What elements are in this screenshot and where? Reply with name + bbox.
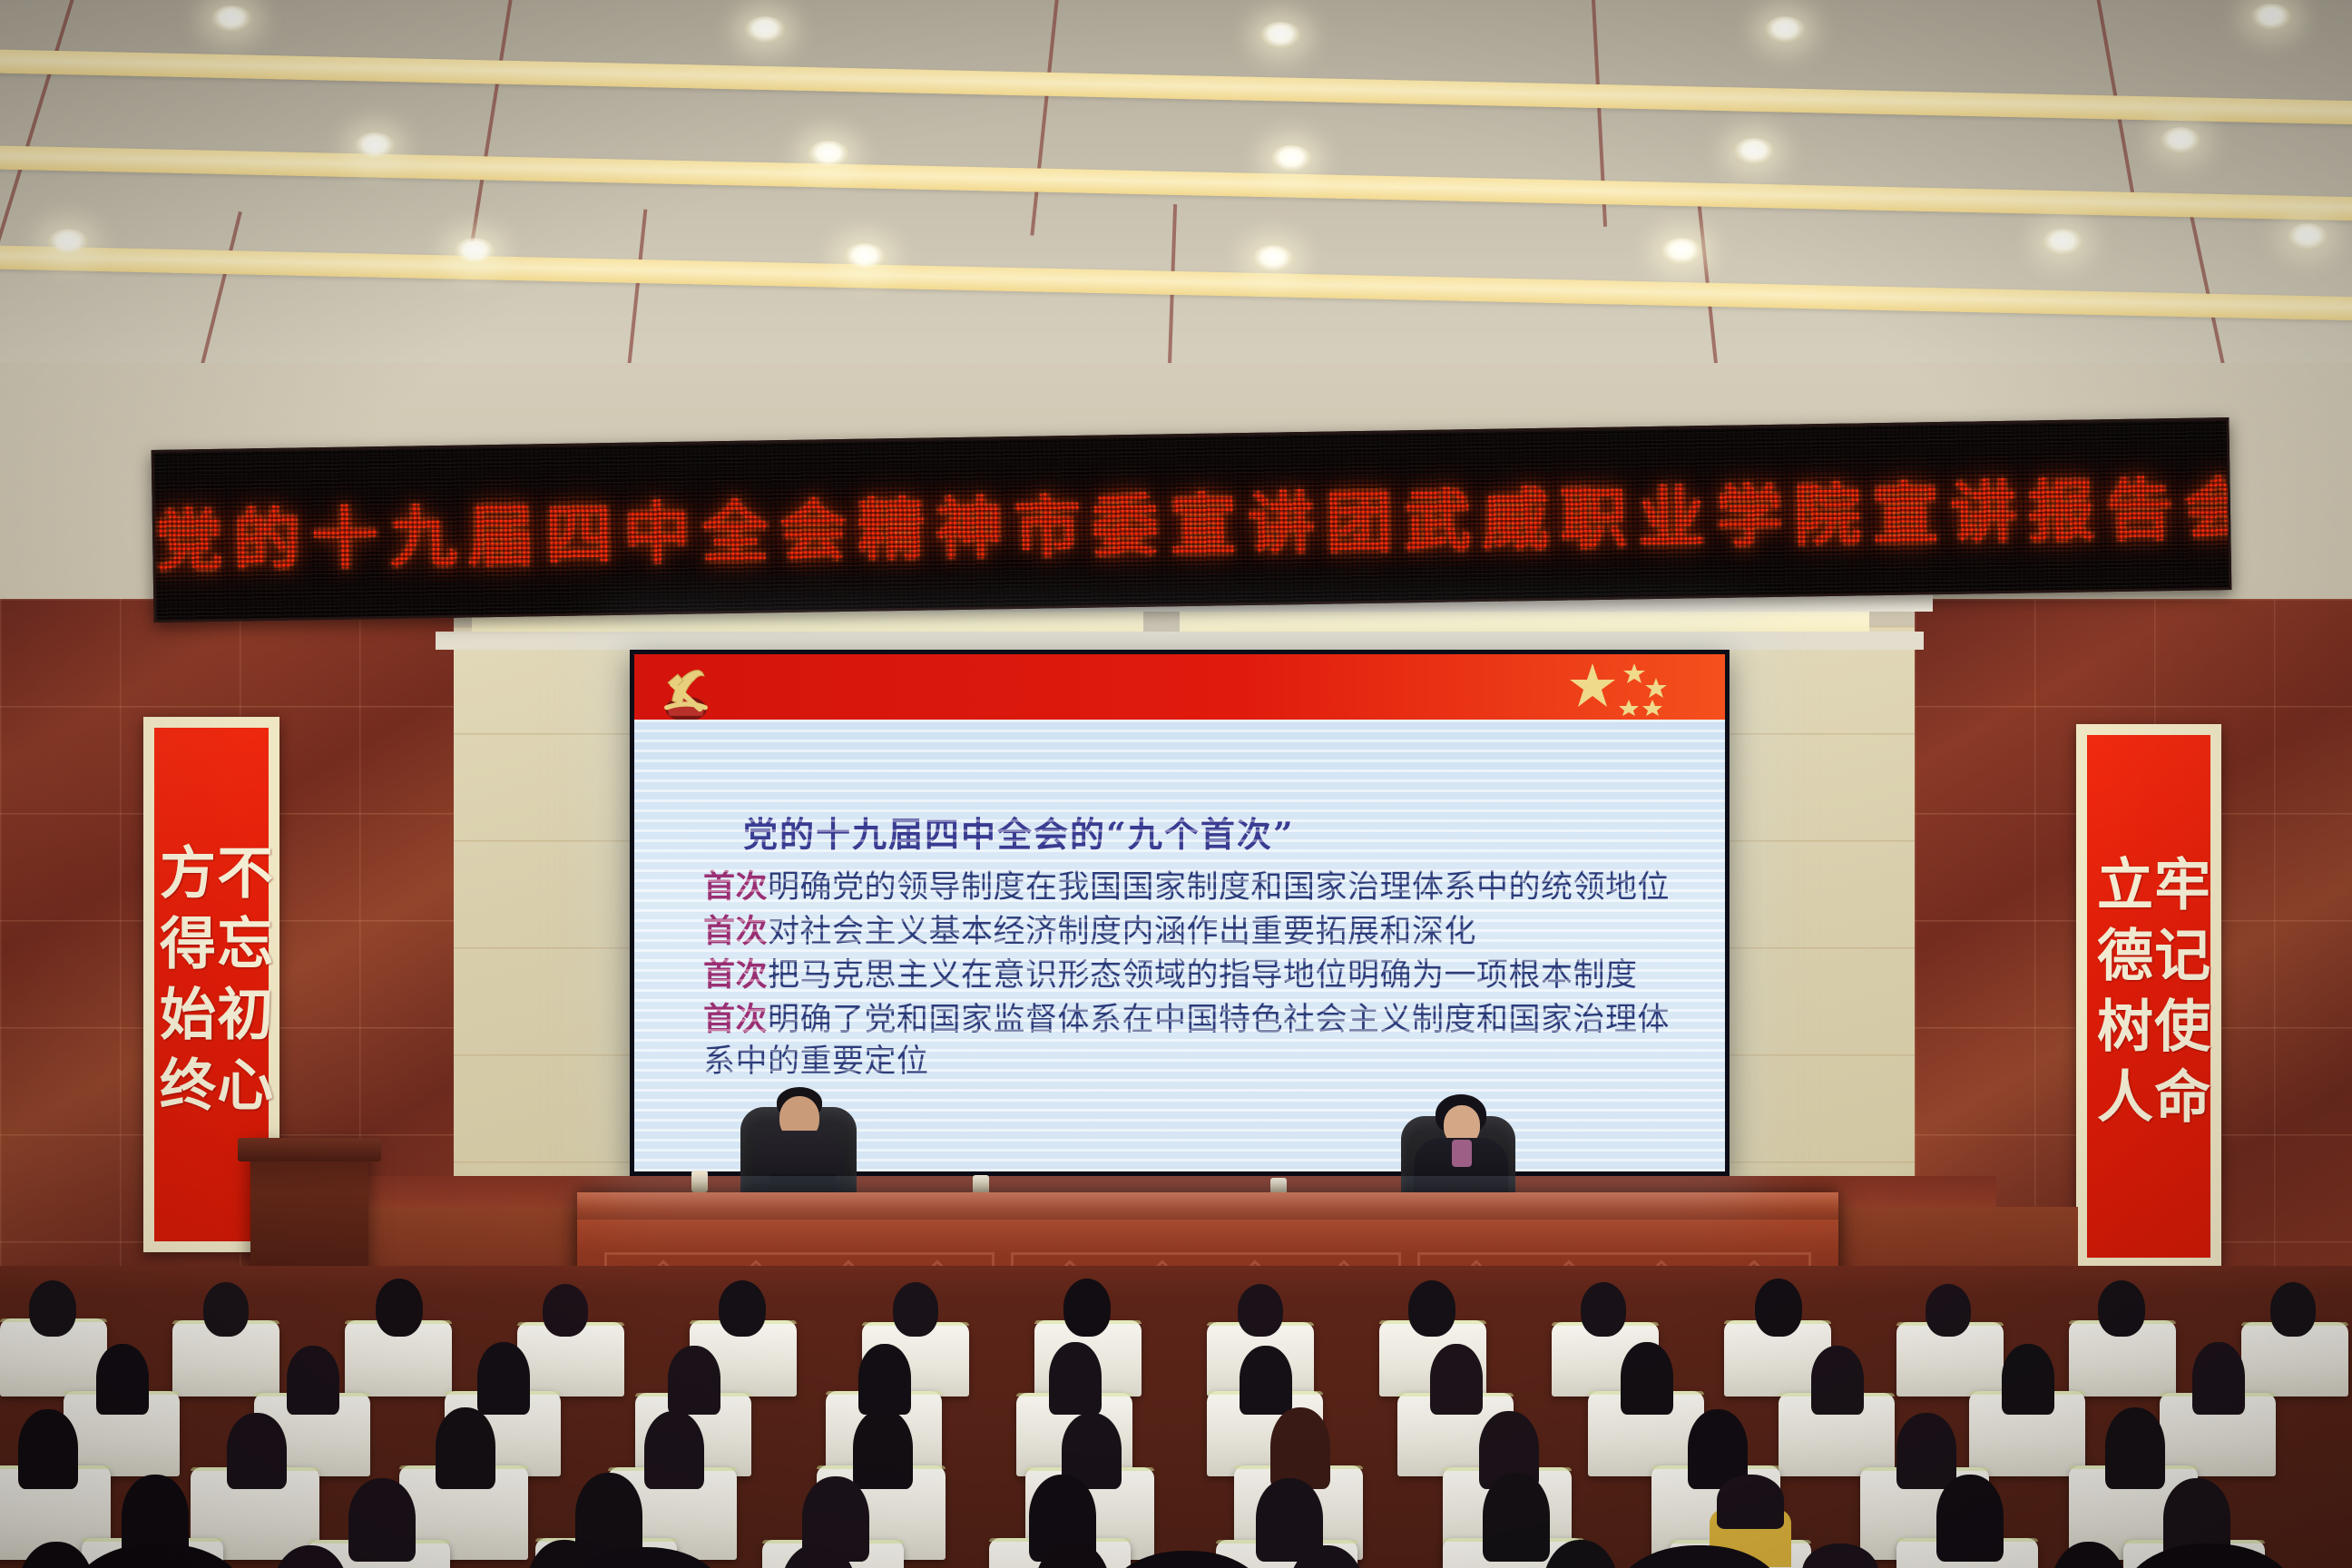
left-banner-text: 不忘初心方得始终 [154, 843, 269, 1126]
audience-hair [1936, 1475, 2004, 1562]
audience-head [1238, 1284, 1283, 1337]
ceiling-downlight [808, 141, 849, 168]
auditorium-scene: 党的十九届四中全会精神市委宣讲团武威职业学院宣讲报告会 不忘初心方得始终 牢记使… [0, 0, 2352, 1568]
right-banner-text: 牢记使命立德树人 [2092, 855, 2206, 1138]
audience-hair [853, 1409, 913, 1489]
audience-head [543, 1284, 588, 1337]
ceiling-downlight [2160, 127, 2201, 154]
audience-hair [1430, 1344, 1483, 1415]
seated-male-speaker [726, 1080, 871, 1198]
audience-head [1581, 1282, 1626, 1337]
slide-header-band [634, 654, 1725, 720]
ceiling [0, 0, 2352, 381]
ceiling-downlight [2287, 223, 2328, 250]
audience-hair [477, 1342, 530, 1415]
audience-head [203, 1282, 249, 1337]
audience-head [2098, 1280, 2145, 1337]
audience-hair [1483, 1473, 1550, 1562]
slide-title: 党的十九届四中全会的“九个首次” [743, 807, 1295, 857]
prc-flag-stars-icon [1565, 660, 1701, 716]
podium-top-surface [238, 1138, 381, 1161]
left-cream-pillar [454, 626, 635, 1261]
audience-head [1408, 1280, 1455, 1337]
audience-head [376, 1279, 423, 1337]
ceiling-downlight [211, 5, 252, 33]
audience-hair [227, 1413, 287, 1489]
slide-bullet: 首次明确了党和国家监督体系在中国特色社会主义制度和国家治理体系中的重要定位 [703, 999, 1694, 1083]
audience-hair [436, 1407, 495, 1489]
audience-seating [0, 1266, 2352, 1568]
ceiling-downlight [1259, 22, 1301, 49]
ceiling-downlight [744, 16, 786, 44]
water-cup [691, 1171, 708, 1192]
ceiling-downlight [354, 132, 396, 160]
led-headline-banner: 党的十九届四中全会精神市委宣讲团武威职业学院宣讲报告会 [152, 417, 2232, 622]
ceiling-downlight [2042, 229, 2083, 256]
audience-head [1755, 1279, 1802, 1337]
led-banner-text: 党的十九届四中全会精神市委宣讲团武威职业学院宣讲报告会 [154, 456, 2228, 585]
seated-female-speaker [1388, 1091, 1534, 1203]
right-vertical-banner: 牢记使命立德树人 [2076, 724, 2221, 1269]
audience-hair [858, 1344, 911, 1415]
ceiling-soffit-inner [436, 632, 1924, 650]
audience-head [1063, 1279, 1111, 1337]
audience-hair [644, 1411, 704, 1489]
audience-head [2270, 1282, 2316, 1337]
slide-bullet: 首次明确党的领导制度在我国国家制度和国家治理体系中的统领地位 [703, 867, 1694, 909]
dais-top-surface [577, 1192, 1838, 1220]
ceiling-downlight [2250, 4, 2292, 31]
audience-hair [2105, 1407, 2165, 1489]
ceiling-downlight [1764, 16, 1806, 44]
audience-hair [1896, 1413, 1956, 1489]
audience-hair [1717, 1475, 1784, 1529]
ceiling-downlight [1661, 238, 1702, 265]
audience-head [29, 1280, 76, 1337]
ceiling-downlight [1270, 145, 1312, 172]
slide-bullet: 首次对社会主义基本经济制度内涵作出重要拓展和深化 [703, 911, 1694, 954]
ceiling-downlight [454, 238, 495, 265]
audience-hair [668, 1346, 720, 1415]
right-cream-pillar [1724, 626, 1915, 1261]
slide-bullet-list: 首次明确党的领导制度在我国国家制度和国家治理体系中的统领地位 首次对社会主义基本… [703, 867, 1694, 1085]
ceiling-soffit-light-2 [1180, 612, 1869, 632]
audience-hair [2002, 1344, 2054, 1415]
led-pixel-mask [154, 420, 2229, 620]
ceiling-downlight [1733, 138, 1775, 165]
audience-head [719, 1280, 766, 1337]
audience-hair [1621, 1342, 1673, 1415]
ceiling-downlight [1252, 245, 1294, 272]
speaker-scarf [1452, 1140, 1472, 1167]
slide-bullet: 首次把马克思主义在意识形态领域的指导地位明确为一项根本制度 [703, 955, 1694, 997]
audience-hair [1240, 1346, 1292, 1415]
audience-hair [1270, 1407, 1330, 1489]
ceiling-downlight [844, 243, 886, 270]
audience-hair [1049, 1342, 1102, 1415]
audience-hair [287, 1346, 339, 1415]
audience-head [1926, 1284, 1971, 1337]
audience-hair [96, 1344, 149, 1415]
audience-hair [348, 1478, 416, 1562]
audience-head [893, 1282, 938, 1337]
audience-hair [2192, 1342, 2245, 1415]
audience-hair [18, 1409, 78, 1489]
audience-hair [1811, 1346, 1864, 1415]
party-emblem-icon [649, 658, 723, 727]
ceiling-downlight [47, 229, 89, 256]
